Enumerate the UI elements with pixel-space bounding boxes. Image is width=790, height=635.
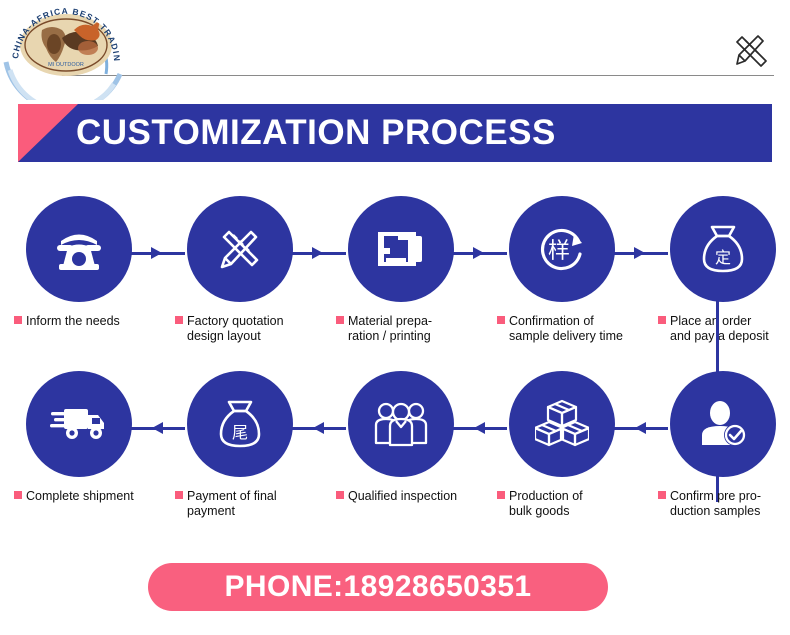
boxes-icon bbox=[535, 398, 589, 450]
step-label: Inform the needs bbox=[0, 314, 158, 329]
flow-step-factory-quotation[interactable]: Factory quotation design layout bbox=[161, 196, 319, 371]
page-title: CUSTOMIZATION PROCESS bbox=[76, 113, 556, 153]
flow-step-confirm-pre-production-samples[interactable]: Confirm pre pro- duction samples bbox=[644, 371, 790, 546]
bullet-square bbox=[658, 491, 666, 499]
flow-step-production-of-bulk-goods[interactable]: Production of bulk goods bbox=[483, 371, 641, 546]
flow-step-confirmation-of-sample[interactable]: 样 Confirmation of sample delivery time bbox=[483, 196, 641, 371]
logo-subtext: MI OUTDOOR bbox=[48, 62, 84, 68]
bullet-square bbox=[14, 316, 22, 324]
step-label-line-1: Payment of final bbox=[187, 489, 277, 503]
phone-number: PHONE:18928650351 bbox=[224, 570, 531, 604]
flow-row-2: Complete shipment 尾 Payment of final bbox=[0, 371, 790, 546]
flow-row-1: Inform the needs Factory quotati bbox=[0, 196, 790, 371]
bullet-square bbox=[497, 491, 505, 499]
telephone-icon bbox=[51, 224, 107, 274]
company-logo: CHINA-AFRICA BEST TRADING PLATFORM MI OU… bbox=[2, 0, 130, 100]
money-bag-final-icon: 尾 bbox=[215, 396, 265, 452]
step-bubble bbox=[26, 371, 132, 477]
flow-step-inform-the-needs[interactable]: Inform the needs bbox=[0, 196, 158, 371]
flow-step-qualified-inspection[interactable]: Qualified inspection bbox=[322, 371, 480, 546]
step-label-line-1: Factory quotation bbox=[187, 314, 284, 328]
title-banner: CUSTOMIZATION PROCESS bbox=[18, 104, 772, 162]
bullet-square bbox=[658, 316, 666, 324]
flow-step-payment-of-final-payment[interactable]: 尾 Payment of final payment bbox=[161, 371, 319, 546]
step-bubble bbox=[348, 196, 454, 302]
step-label-line-1: Production of bbox=[509, 489, 583, 503]
step-label-line-1: Inform the needs bbox=[26, 314, 120, 328]
sample-glyph: 样 bbox=[548, 239, 570, 264]
step-label: Confirmation of sample delivery time bbox=[483, 314, 641, 344]
step-bubble: 定 bbox=[670, 196, 776, 302]
bullet-square bbox=[336, 491, 344, 499]
step-label-line-2: duction samples bbox=[670, 504, 760, 518]
printer-icon bbox=[374, 224, 428, 274]
step-label: Production of bulk goods bbox=[483, 489, 641, 519]
step-bubble bbox=[26, 196, 132, 302]
inspection-people-icon bbox=[372, 399, 430, 449]
poster-root: CHINA-AFRICA BEST TRADING PLATFORM MI OU… bbox=[0, 0, 790, 635]
bullet-square bbox=[497, 316, 505, 324]
step-label-line-2: payment bbox=[187, 504, 235, 518]
user-check-icon bbox=[696, 399, 750, 449]
step-bubble bbox=[509, 371, 615, 477]
bullet-square bbox=[175, 316, 183, 324]
banner-accent-triangle bbox=[18, 104, 78, 162]
step-label: Factory quotation design layout bbox=[161, 314, 319, 344]
final-payment-glyph: 尾 bbox=[232, 423, 248, 442]
step-label-line-2: sample delivery time bbox=[509, 329, 623, 343]
bullet-square bbox=[336, 316, 344, 324]
pencil-ruler-icon bbox=[214, 223, 266, 275]
step-label: Material prepa- ration / printing bbox=[322, 314, 480, 344]
bullet-square bbox=[175, 491, 183, 499]
process-flow: Inform the needs Factory quotati bbox=[0, 196, 790, 556]
phone-banner[interactable]: PHONE:18928650351 bbox=[148, 563, 608, 611]
step-label-line-2: design layout bbox=[187, 329, 261, 343]
step-bubble: 样 bbox=[509, 196, 615, 302]
money-bag-deposit-icon: 定 bbox=[698, 221, 748, 277]
flow-step-material-preparation[interactable]: Material prepa- ration / printing bbox=[322, 196, 480, 371]
step-label: Confirm pre pro- duction samples bbox=[644, 489, 790, 519]
step-label-line-1: Material prepa- bbox=[348, 314, 432, 328]
delivery-truck-icon bbox=[50, 403, 108, 445]
flow-step-complete-shipment[interactable]: Complete shipment bbox=[0, 371, 158, 546]
step-label-line-1: Complete shipment bbox=[26, 489, 134, 503]
step-label: Payment of final payment bbox=[161, 489, 319, 519]
sample-refresh-icon: 样 bbox=[534, 222, 590, 276]
step-label-line-1: Confirmation of bbox=[509, 314, 594, 328]
step-label: Qualified inspection bbox=[322, 489, 480, 504]
step-label-line-1: Confirm pre pro- bbox=[670, 489, 761, 503]
step-bubble bbox=[187, 196, 293, 302]
bullet-square bbox=[14, 491, 22, 499]
step-bubble bbox=[348, 371, 454, 477]
step-label-line-1: Qualified inspection bbox=[348, 489, 457, 503]
step-bubble: 尾 bbox=[187, 371, 293, 477]
deposit-glyph: 定 bbox=[715, 248, 731, 267]
step-bubble bbox=[670, 371, 776, 477]
step-label: Complete shipment bbox=[0, 489, 158, 504]
header-divider bbox=[62, 75, 774, 76]
step-label-line-2: ration / printing bbox=[348, 329, 431, 343]
pencil-ruler-icon bbox=[726, 28, 774, 72]
step-label-line-2: bulk goods bbox=[509, 504, 569, 518]
